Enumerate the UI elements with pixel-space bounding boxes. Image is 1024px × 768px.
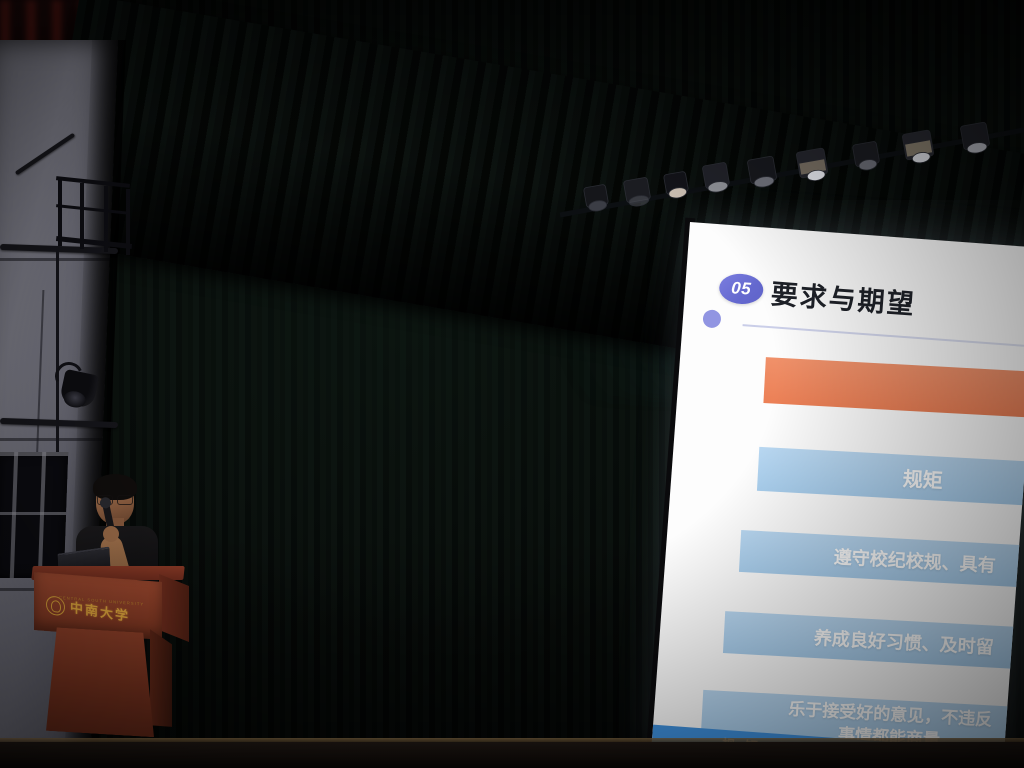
stage-floor bbox=[0, 742, 1024, 768]
lectern-base bbox=[46, 627, 154, 738]
lectern-face: 中南大学 CENTRAL SOUTH UNIVERSITY bbox=[34, 572, 162, 640]
auditorium-stage-photo: 05 要求与期望 规矩 遵守校纪校规、具有 养成良好习惯、及时留 乐于接受好的意… bbox=[0, 0, 1024, 768]
slide-bar-3: 养成良好习惯、及时留 bbox=[723, 611, 1024, 672]
lectern-side bbox=[159, 574, 189, 642]
slide-accent-dot bbox=[702, 309, 721, 328]
lectern-base-side bbox=[150, 629, 172, 730]
projection-screen[interactable]: 05 要求与期望 规矩 遵守校纪校规、具有 养成良好习惯、及时留 乐于接受好的意… bbox=[651, 222, 1024, 768]
slide-title-rule bbox=[743, 324, 1024, 348]
presenter-hand bbox=[103, 526, 119, 542]
catwalk-railing bbox=[56, 178, 130, 258]
slide-title: 要求与期望 bbox=[770, 272, 917, 322]
slide-bar-1: 规矩 bbox=[757, 447, 1024, 509]
slide-number-badge: 05 bbox=[718, 272, 764, 305]
slide-bar-orange bbox=[763, 357, 1024, 421]
slide-surface: 05 要求与期望 规矩 遵守校纪校规、具有 养成良好习惯、及时留 乐于接受好的意… bbox=[651, 222, 1024, 768]
slide-bar-2: 遵守校纪校规、具有 bbox=[739, 530, 1024, 591]
